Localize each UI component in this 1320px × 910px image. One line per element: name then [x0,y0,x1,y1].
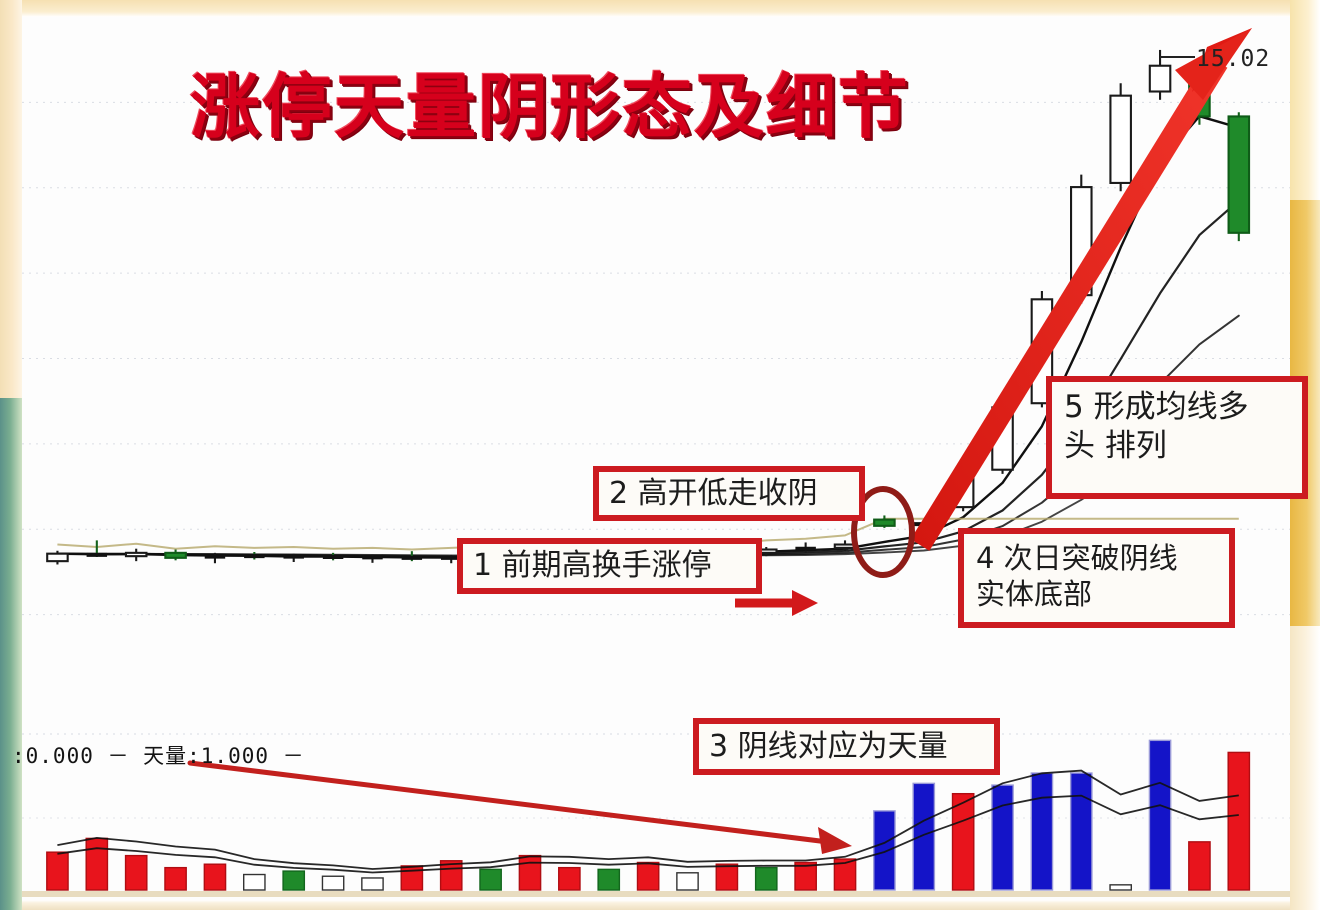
right-border-bottom [1290,626,1320,910]
annotation-2: 2 高开低走收阴 [593,466,865,521]
volume-axis-readout: :0.000 － 天量:1.000 － [12,740,305,770]
left-border-top [0,0,22,400]
chart-screenshot: 涨停天量阴形态及细节 15.02 :0.000 － 天量:1.000 － 1 前… [0,0,1320,910]
annotation-5-line-2: 头 排列 [1064,427,1290,466]
top-border-strip [22,0,1290,17]
left-border-bottom [0,398,22,910]
annotation-5: 5 形成均线多 头 排列 [1046,376,1308,499]
annotation-5-line-1: 5 形成均线多 [1064,388,1290,427]
date-tick-row [22,18,1290,44]
annotation-3: 3 阴线对应为天量 [693,718,1000,775]
annotation-4: 4 次日突破阴线 实体底部 [958,528,1235,628]
right-border-top [1290,0,1320,205]
volume-chart-pane [22,700,1290,900]
annotation-4-line-2: 实体底部 [976,576,1217,612]
bottom-border-strip [22,900,1290,910]
volume-bar-plot [22,700,1290,900]
price-label: 15.02 [1196,46,1270,72]
page-title: 涨停天量阴形态及细节 [190,72,910,142]
annotation-4-line-1: 4 次日突破阴线 [976,540,1217,576]
annotation-1: 1 前期高换手涨停 [457,538,762,594]
